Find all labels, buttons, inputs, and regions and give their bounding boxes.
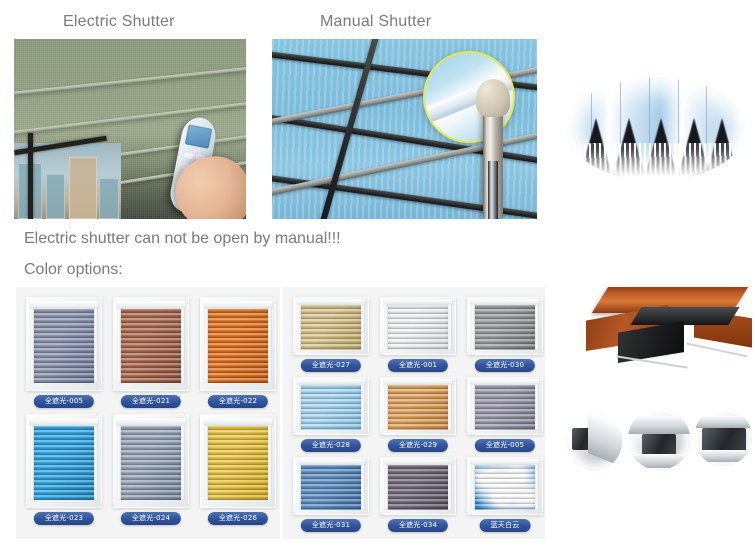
swatch-slat-lines — [208, 426, 267, 499]
swatch-slat-lines — [121, 309, 180, 382]
swatch-side-track — [448, 464, 453, 510]
swatch-blind-area — [34, 426, 93, 499]
swatch-label-pill: 全遮光-026 — [208, 512, 268, 525]
swatch-005-lavender-grey[interactable]: 全遮光-005 — [467, 377, 543, 451]
swatch-label-pill: 全遮光-031 — [301, 519, 361, 532]
swatch-023-sky-blue[interactable]: 全遮光-023 — [26, 414, 102, 524]
swatch-side-track — [361, 464, 366, 510]
color-panel-right: 全遮光-027全遮光-001全遮光-030全遮光-028全遮光-029全遮光-0… — [283, 287, 545, 539]
swatch-slat-lines — [475, 305, 534, 350]
swatch-label-pill: 全遮光-029 — [388, 439, 448, 452]
building — [69, 157, 97, 219]
swatch-label-pill: 全遮光-005 — [475, 439, 535, 452]
building — [99, 178, 118, 219]
swatch-side-track — [448, 384, 453, 430]
swatch-slat-lines — [208, 309, 267, 382]
swatch-031-denim-blue[interactable]: 全遮光-031 — [293, 457, 369, 531]
swatch-slat-lines — [301, 305, 360, 350]
swatch-side-track — [448, 304, 453, 350]
swatch-slat-lines — [34, 309, 93, 382]
swatch-slat-lines — [388, 385, 447, 430]
swatch-blue-sky-white-clouds[interactable]: 蓝天白云 — [467, 457, 543, 531]
swatch-024-grey-blue[interactable]: 全遮光-024 — [113, 414, 189, 524]
heading-manual-shutter: Manual Shutter — [320, 13, 431, 31]
hardware-circle-lock — [628, 408, 690, 470]
swatch-headrail — [204, 301, 272, 309]
swatch-headrail — [204, 418, 272, 426]
swatch-frame — [380, 377, 456, 435]
remote-screen — [185, 124, 212, 148]
pole-head — [476, 79, 510, 117]
photo-hardware-components — [566, 404, 752, 488]
swatch-label-pill: 全遮光-030 — [475, 359, 535, 372]
color-options-label: Color options: — [24, 261, 123, 279]
swatch-frame — [380, 297, 456, 355]
hardware-part — [628, 454, 690, 468]
swatch-028-light-blue[interactable]: 全遮光-028 — [293, 377, 369, 451]
swatch-022-orange[interactable]: 全遮光-022 — [200, 297, 276, 407]
swatch-frame — [380, 457, 456, 515]
swatch-blind-area — [475, 465, 534, 510]
swatch-030-grey[interactable]: 全遮光-030 — [467, 297, 543, 371]
swatch-frame — [293, 297, 369, 355]
swatch-frame — [293, 377, 369, 435]
swatch-blind-area — [34, 309, 93, 382]
swatch-021-terracotta-brown[interactable]: 全遮光-021 — [113, 297, 189, 407]
swatch-label-pill: 全遮光-001 — [388, 359, 448, 372]
fabric-frayed-edge — [570, 143, 743, 180]
swatch-005-steel-blue-grey[interactable]: 全遮光-005 — [26, 297, 102, 407]
swatch-side-track — [535, 384, 540, 430]
manual-crank-pole — [483, 107, 503, 219]
swatch-label-pill: 全遮光-021 — [121, 395, 181, 408]
swatch-027-beige-sand[interactable]: 全遮光-027 — [293, 297, 369, 371]
swatch-label-pill: 全遮光-028 — [301, 439, 361, 452]
swatch-blind-area — [475, 305, 534, 350]
swatch-034-dark-purple-grey[interactable]: 全遮光-034 — [380, 457, 456, 531]
swatch-label-pill: 蓝天白云 — [480, 519, 531, 532]
swatch-frame — [113, 414, 189, 508]
swatch-029-tan-orange[interactable]: 全遮光-029 — [380, 377, 456, 451]
swatch-frame — [293, 457, 369, 515]
hardware-circle-bracket — [566, 414, 622, 470]
swatch-slat-lines — [388, 465, 447, 510]
color-panel-left: 全遮光-005全遮光-021全遮光-022全遮光-023全遮光-024全遮光-0… — [16, 287, 280, 539]
photo-profile-rails — [566, 283, 752, 383]
swatch-headrail — [30, 418, 98, 426]
photo-manual-shutter — [272, 39, 537, 219]
swatch-blind-area — [301, 305, 360, 350]
hardware-part — [696, 450, 750, 462]
pergola-post — [28, 133, 33, 219]
swatch-frame — [200, 414, 276, 508]
swatch-blind-area — [301, 465, 360, 510]
hardware-part — [588, 414, 622, 467]
swatch-slat-lines — [475, 465, 534, 510]
swatch-frame — [26, 297, 102, 391]
swatch-slat-lines — [121, 426, 180, 499]
swatch-side-track — [268, 308, 273, 383]
swatch-side-track — [94, 308, 99, 383]
swatch-frame — [113, 297, 189, 391]
swatch-slat-lines — [388, 305, 447, 350]
swatch-label-pill: 全遮光-022 — [208, 395, 268, 408]
warning-text: Electric shutter can not be open by manu… — [24, 230, 341, 248]
swatch-blind-area — [388, 305, 447, 350]
swatch-slat-lines — [34, 426, 93, 499]
swatch-blind-area — [301, 385, 360, 430]
swatch-side-track — [94, 425, 99, 500]
swatch-label-pill: 全遮光-027 — [301, 359, 361, 372]
swatch-026-yellow[interactable]: 全遮光-026 — [200, 414, 276, 524]
swatch-slat-lines — [301, 465, 360, 510]
swatch-label-pill: 全遮光-005 — [34, 395, 94, 408]
hardware-part — [702, 428, 746, 452]
swatch-frame — [26, 414, 102, 508]
pole-rod — [488, 161, 498, 219]
swatch-blind-area — [208, 309, 267, 382]
hardware-part — [696, 416, 750, 428]
swatch-label-pill: 全遮光-024 — [121, 512, 181, 525]
swatch-frame — [467, 377, 543, 435]
swatch-slat-lines — [301, 385, 360, 430]
swatch-frame — [467, 457, 543, 515]
photo-pleated-fabric-sample — [566, 78, 746, 180]
swatch-frame — [200, 297, 276, 391]
swatch-blind-area — [208, 426, 267, 499]
swatch-side-track — [535, 304, 540, 350]
swatch-blind-area — [475, 385, 534, 430]
swatch-headrail — [117, 301, 185, 309]
fabric-oval — [566, 78, 746, 180]
swatch-headrail — [117, 418, 185, 426]
swatch-blind-area — [121, 309, 180, 382]
swatch-side-track — [361, 304, 366, 350]
photo-electric-shutter — [14, 39, 246, 219]
swatch-side-track — [181, 425, 186, 500]
black-rail-top — [630, 307, 739, 325]
product-info-page: Electric Shutter Manual Shutter — [0, 0, 755, 546]
remote-button — [183, 151, 194, 160]
swatch-label-pill: 全遮光-034 — [388, 519, 448, 532]
swatch-slat-lines — [475, 385, 534, 430]
swatch-side-track — [535, 464, 540, 510]
swatch-001-white[interactable]: 全遮光-001 — [380, 297, 456, 371]
hardware-part — [642, 434, 676, 456]
swatch-label-pill: 全遮光-023 — [34, 512, 94, 525]
swatch-blind-area — [121, 426, 180, 499]
swatch-blind-area — [388, 385, 447, 430]
swatch-side-track — [361, 384, 366, 430]
heading-electric-shutter: Electric Shutter — [63, 13, 175, 31]
swatch-side-track — [181, 308, 186, 383]
swatch-blind-area — [388, 465, 447, 510]
swatch-side-track — [268, 425, 273, 500]
hardware-part — [628, 416, 690, 434]
swatch-headrail — [30, 301, 98, 309]
swatch-frame — [467, 297, 543, 355]
building — [46, 174, 65, 219]
hardware-circle-mechanism — [694, 408, 752, 466]
